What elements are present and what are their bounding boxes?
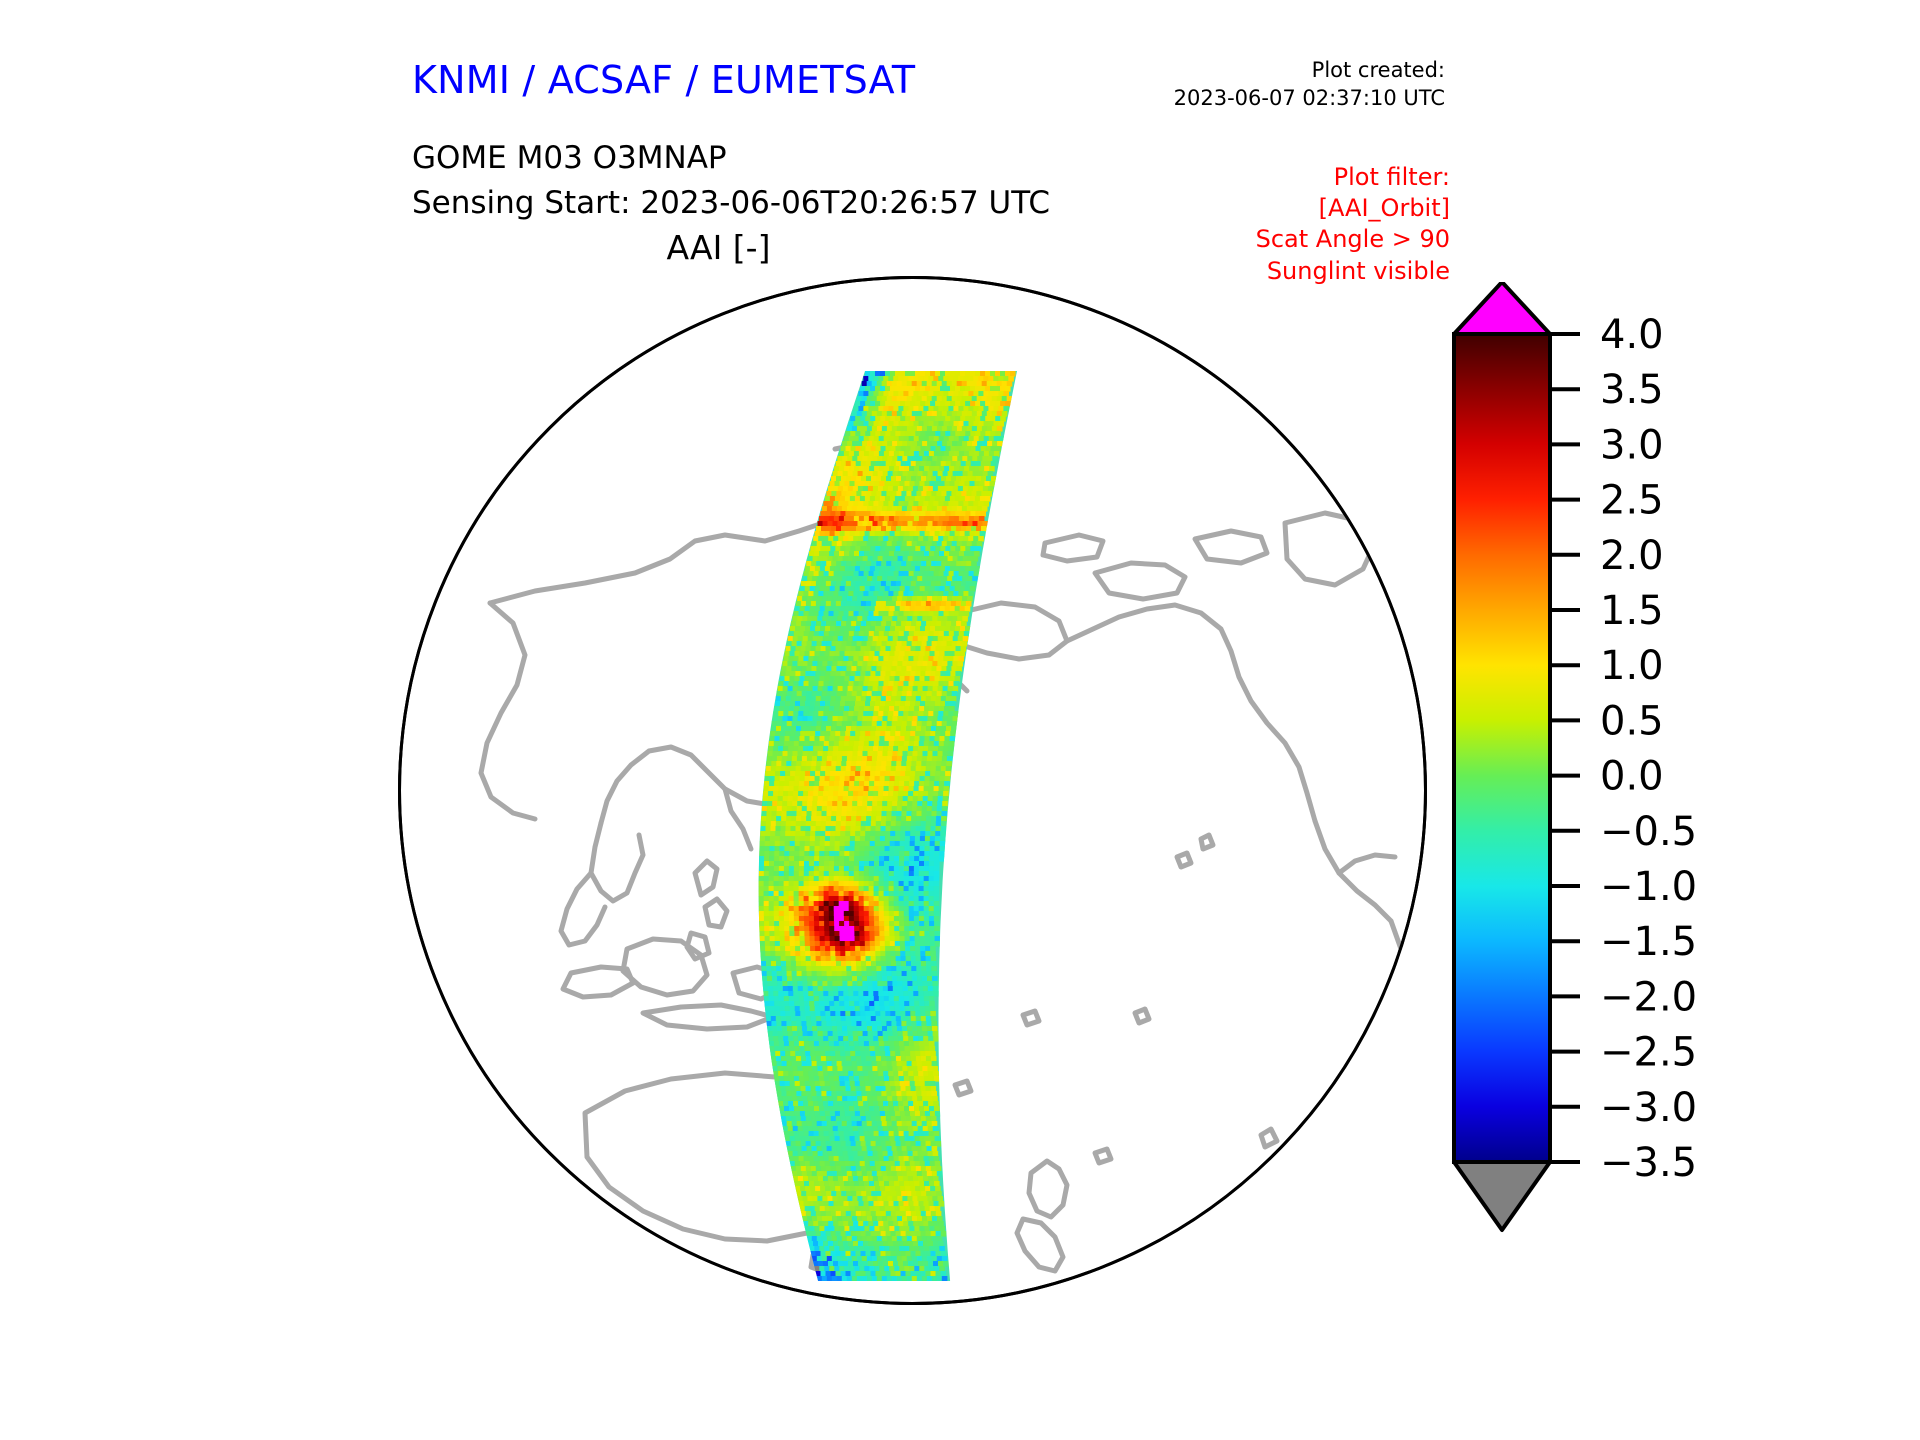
plot-created-block: Plot created: 2023-06-07 02:37:10 UTC [1174,57,1445,112]
colorbar-tick-label: 1.5 [1600,588,1664,634]
orthographic-globe [395,273,1430,1308]
plot-filter-line-1: Scat Angle > 90 [1256,224,1450,255]
plot-filter-block: Plot filter: [AAI_Orbit] Scat Angle > 90… [1256,162,1450,287]
sensing-start-label: Sensing Start: 2023-06-06T20:26:57 UTC [412,185,1050,221]
organisation-title: KNMI / ACSAF / EUMETSAT [412,58,915,102]
colorbar-tick-label: 4.0 [1600,312,1664,358]
product-title: GOME M03 O3MNAP [412,140,727,176]
colorbar: 4.03.53.02.52.01.51.00.50.0−0.5−1.0−1.5−… [1440,282,1860,1312]
plot-created-label: Plot created: [1174,57,1445,85]
page-title: AAI [-] [0,228,1437,267]
plot-created-timestamp: 2023-06-07 02:37:10 UTC [1174,85,1445,113]
colorbar-panel: 4.03.53.02.52.01.51.00.50.0−0.5−1.0−1.5−… [1440,282,1860,1312]
colorbar-tick-label: 0.0 [1600,754,1664,800]
colorbar-over-arrow [1454,282,1550,334]
colorbar-gradient [1454,334,1550,1162]
colorbar-tick-label: −1.5 [1600,919,1697,965]
colorbar-under-arrow [1454,1162,1550,1230]
colorbar-tick-label: −2.0 [1600,974,1697,1020]
colorbar-tick-label: 3.0 [1600,422,1664,468]
colorbar-tick-label: −3.0 [1600,1085,1697,1131]
colorbar-tick-label: −0.5 [1600,809,1697,855]
colorbar-tick-label: −3.5 [1600,1140,1697,1186]
colorbar-tick-label: 2.5 [1600,478,1664,524]
colorbar-tick-label: 1.0 [1600,643,1664,689]
colorbar-ticks: 4.03.53.02.52.01.51.00.50.0−0.5−1.0−1.5−… [1550,312,1697,1186]
colorbar-tick-label: −1.0 [1600,864,1697,910]
plot-filter-line-0: [AAI_Orbit] [1256,193,1450,224]
colorbar-tick-label: 0.5 [1600,698,1664,744]
colorbar-tick-label: −2.5 [1600,1030,1697,1076]
colorbar-tick-label: 2.0 [1600,533,1664,579]
plot-filter-label: Plot filter: [1256,162,1450,193]
colorbar-tick-label: 3.5 [1600,367,1664,413]
figure-canvas: KNMI / ACSAF / EUMETSAT GOME M03 O3MNAP … [0,0,1920,1440]
map-panel [395,273,1430,1308]
